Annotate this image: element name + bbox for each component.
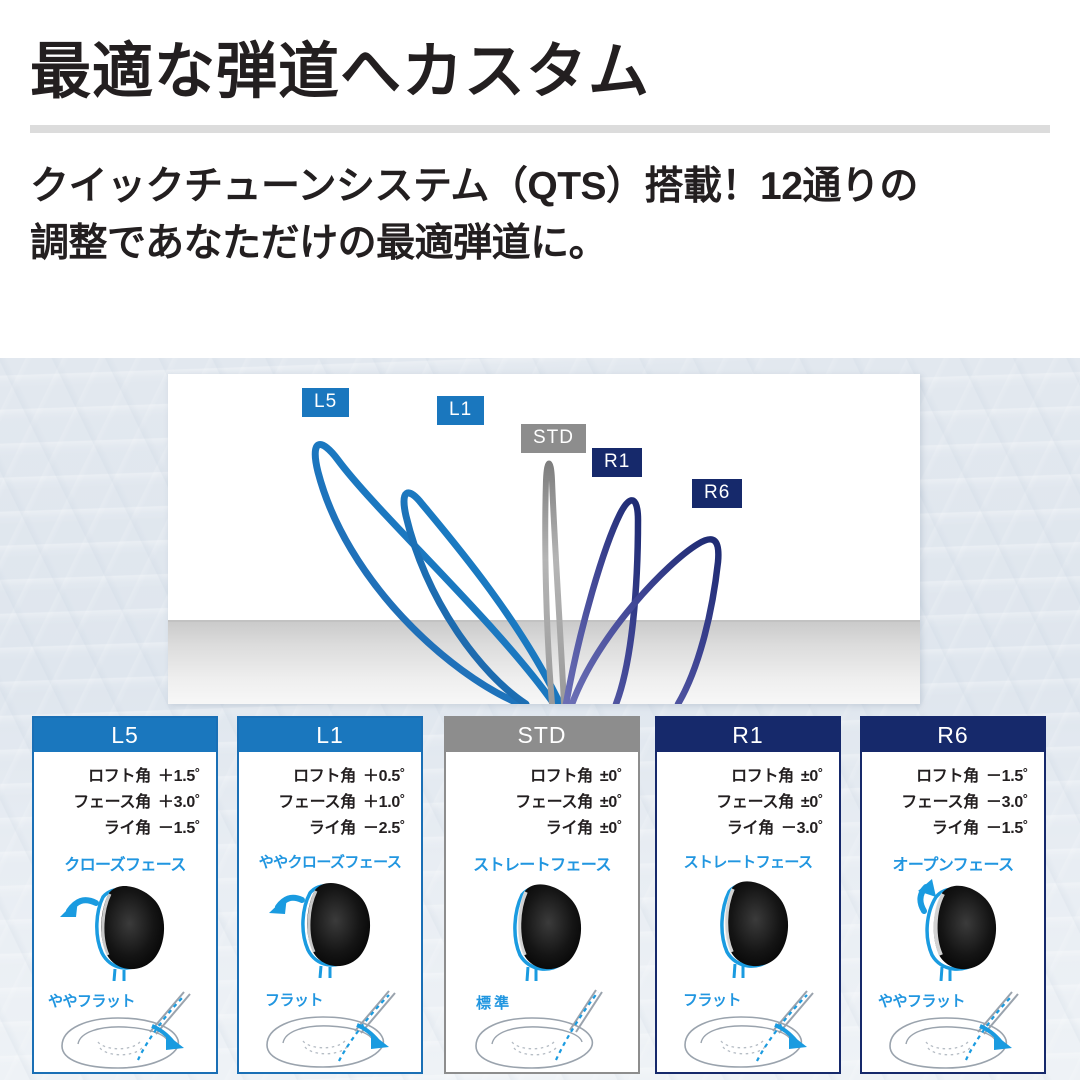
spec-loft: ロフト角－1.5˚ xyxy=(872,764,1034,790)
card-l5-head-illustration xyxy=(34,877,216,976)
trajectory-label-r1: R1 xyxy=(592,448,642,477)
card-r6-specs: ロフト角－1.5˚ フェース角－3.0˚ ライ角－1.5˚ xyxy=(862,752,1044,842)
card-l1-face-label: ややクローズフェース xyxy=(239,851,421,872)
card-r1-head-illustration xyxy=(657,874,839,975)
card-r6-head-illustration xyxy=(862,877,1044,976)
card-std-face-label: ストレートフェース xyxy=(446,851,638,875)
spec-face: フェース角＋1.0˚ xyxy=(249,790,411,816)
spec-face: フェース角±0˚ xyxy=(667,790,829,816)
spec-loft: ロフト角±0˚ xyxy=(667,764,829,790)
card-l5-face-label: クローズフェース xyxy=(34,851,216,875)
subtitle-line-2: 調整であなただけの最適弾道に。 xyxy=(30,216,1050,273)
trajectory-label-std: STD xyxy=(521,424,586,453)
setting-cards: L5 ロフト角＋1.5˚ フェース角＋3.0˚ ライ角－1.5˚ クローズフェー… xyxy=(0,716,1080,1080)
spec-lie: ライ角－3.0˚ xyxy=(667,816,829,842)
card-l1-lie-label: フラット xyxy=(265,989,323,1010)
card-r1-specs: ロフト角±0˚ フェース角±0˚ ライ角－3.0˚ xyxy=(657,752,839,842)
card-l5-specs: ロフト角＋1.5˚ フェース角＋3.0˚ ライ角－1.5˚ xyxy=(34,752,216,842)
card-r1[interactable]: R1 ロフト角±0˚ フェース角±0˚ ライ角－3.0˚ ストレートフェース フ… xyxy=(655,716,841,1074)
card-r6-face-label: オープンフェース xyxy=(862,851,1044,875)
card-r6-lie-label: ややフラット xyxy=(878,990,965,1011)
subtitle-line-1: クイックチューンシステム（QTS）搭載！12通りの xyxy=(30,159,1050,216)
spec-lie: ライ角±0˚ xyxy=(456,816,628,842)
card-r6-lie-illustration: ややフラット xyxy=(862,980,1044,1072)
card-r6-title: R6 xyxy=(862,718,1044,752)
trajectory-label-l1: L1 xyxy=(437,396,484,425)
card-std-specs: ロフト角±0˚ フェース角±0˚ ライ角±0˚ xyxy=(446,752,638,842)
card-l1-title: L1 xyxy=(239,718,421,752)
card-l5-lie-label: ややフラット xyxy=(48,990,135,1011)
page-title: 最適な弾道へカスタム xyxy=(30,38,1050,105)
card-r1-lie-illustration: フラット xyxy=(657,979,839,1072)
spec-lie: ライ角－1.5˚ xyxy=(44,816,206,842)
card-l1-head-illustration xyxy=(239,874,421,975)
card-r1-lie-label: フラット xyxy=(683,989,741,1010)
card-l5-lie-illustration: ややフラット xyxy=(34,980,216,1072)
spec-loft: ロフト角＋0.5˚ xyxy=(249,764,411,790)
trajectory-label-r6: R6 xyxy=(692,479,742,508)
card-std-title: STD xyxy=(446,718,638,752)
spec-lie: ライ角－2.5˚ xyxy=(249,816,411,842)
spec-face: フェース角±0˚ xyxy=(456,790,628,816)
card-l1-specs: ロフト角＋0.5˚ フェース角＋1.0˚ ライ角－2.5˚ xyxy=(239,752,421,842)
card-l1-lie-illustration: フラット xyxy=(239,979,421,1072)
card-std-head-illustration xyxy=(446,877,638,976)
spec-face: フェース角＋3.0˚ xyxy=(44,790,206,816)
trajectory-label-l5: L5 xyxy=(302,388,349,417)
spec-loft: ロフト角＋1.5˚ xyxy=(44,764,206,790)
card-r1-face-label: ストレートフェース xyxy=(657,851,839,872)
card-std-lie-illustration: 標 準 xyxy=(446,980,638,1072)
spec-lie: ライ角－1.5˚ xyxy=(872,816,1034,842)
spec-face: フェース角－3.0˚ xyxy=(872,790,1034,816)
card-l1[interactable]: L1 ロフト角＋0.5˚ フェース角＋1.0˚ ライ角－2.5˚ ややクローズフ… xyxy=(237,716,423,1074)
card-l5-title: L5 xyxy=(34,718,216,752)
card-std-lie-label: 標 準 xyxy=(476,992,509,1013)
card-std[interactable]: STD ロフト角±0˚ フェース角±0˚ ライ角±0˚ ストレートフェース 標 … xyxy=(444,716,640,1074)
page-subtitle: クイックチューンシステム（QTS）搭載！12通りの 調整であなただけの最適弾道に… xyxy=(30,159,1050,272)
card-r6[interactable]: R6 ロフト角－1.5˚ フェース角－3.0˚ ライ角－1.5˚ オープンフェー… xyxy=(860,716,1046,1074)
spec-loft: ロフト角±0˚ xyxy=(456,764,628,790)
card-l5[interactable]: L5 ロフト角＋1.5˚ フェース角＋3.0˚ ライ角－1.5˚ クローズフェー… xyxy=(32,716,218,1074)
header: 最適な弾道へカスタム クイックチューンシステム（QTS）搭載！12通りの 調整で… xyxy=(0,0,1080,272)
header-divider xyxy=(30,125,1050,133)
card-r1-title: R1 xyxy=(657,718,839,752)
